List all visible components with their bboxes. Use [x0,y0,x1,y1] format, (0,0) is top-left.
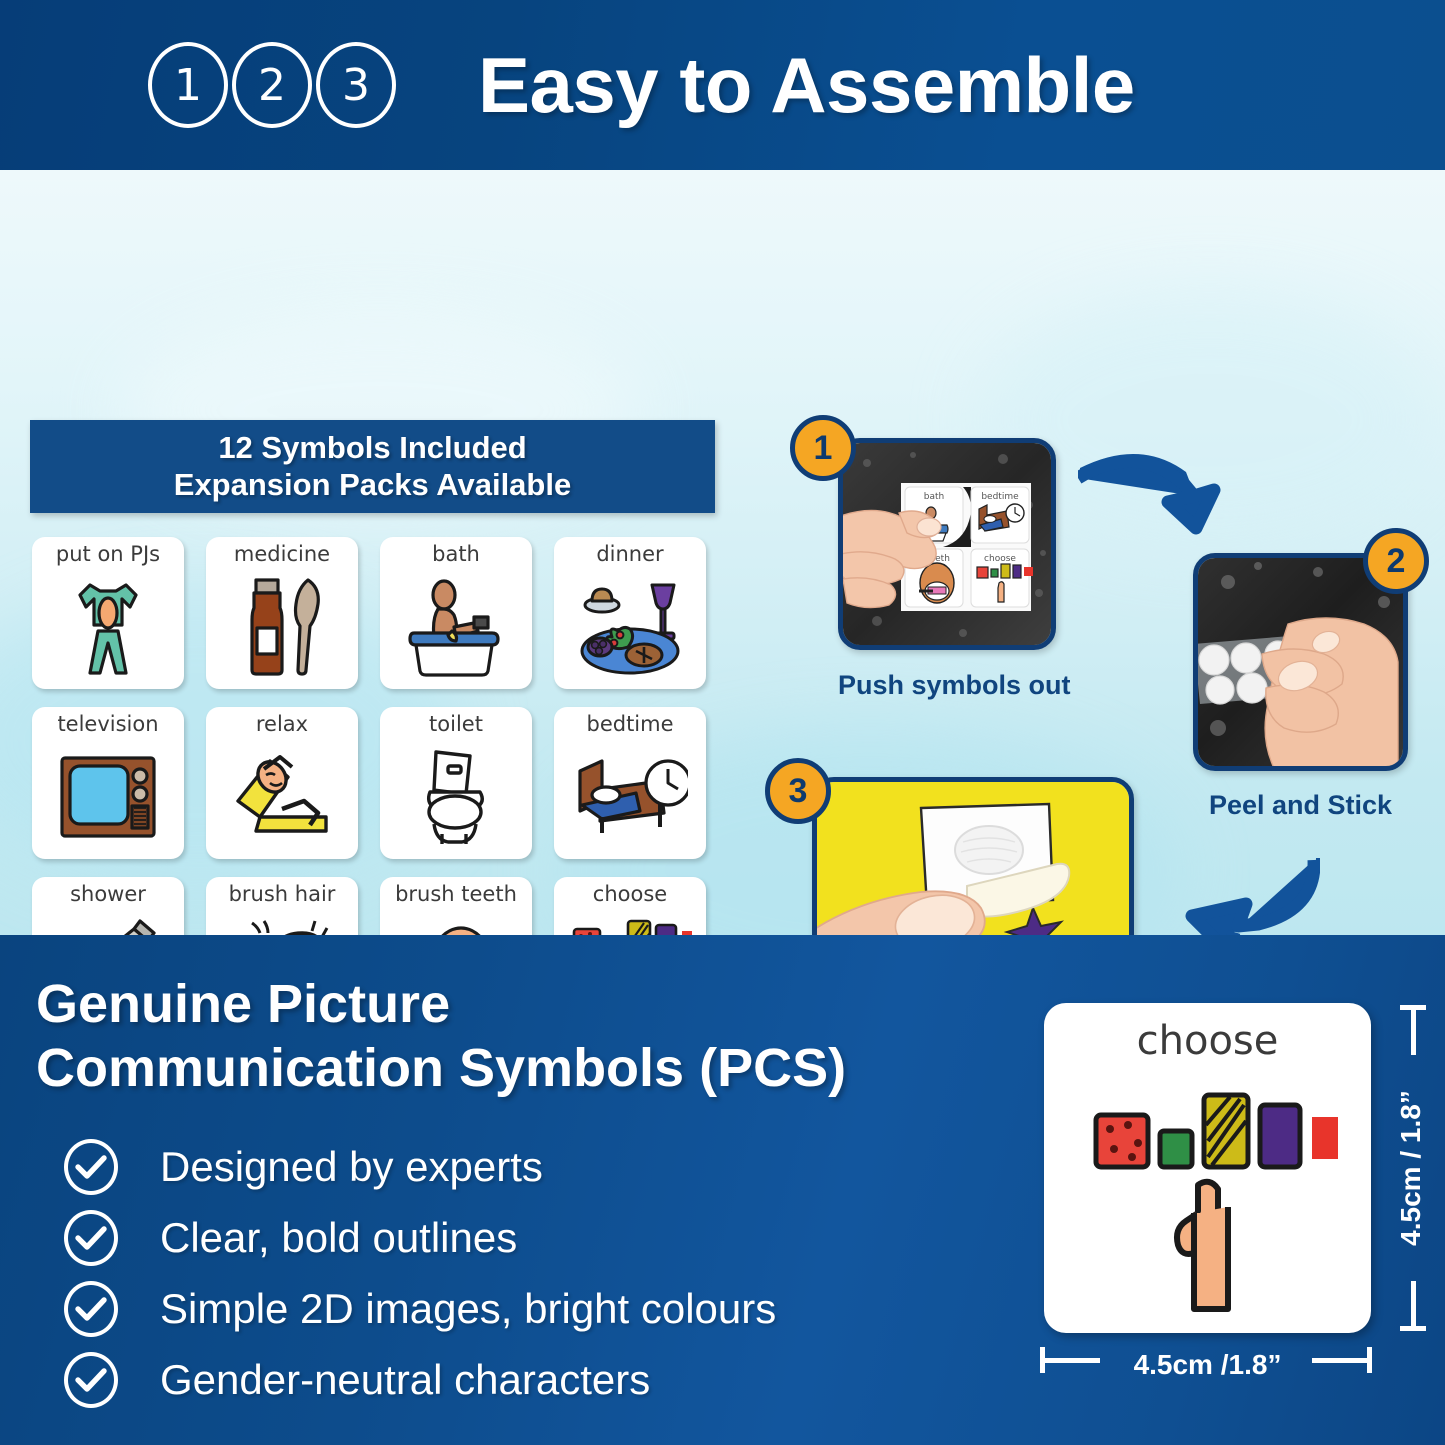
check-icon [64,1281,118,1337]
symbol-label: television [57,714,158,735]
step-number-badges: 1 2 3 [148,42,396,128]
step-3-photo [812,777,1134,935]
assembly-section: 12 Symbols Included Expansion Packs Avai… [0,170,1445,935]
shower-head-icon [32,905,184,935]
symbols-included-banner: 12 Symbols Included Expansion Packs Avai… [30,420,715,513]
header-number-2: 2 [232,42,312,128]
step-1-photo: bath bedtime te [838,438,1056,650]
symbol-label: toilet [429,714,483,735]
check-icon [64,1352,118,1408]
svg-text:choose: choose [984,554,1016,564]
television-icon [32,735,184,859]
feature-item: Clear, bold outlines [64,1202,776,1273]
header-number-1: 1 [148,42,228,128]
pcs-title-line-2: Communication Symbols (PCS) [36,1037,1036,1101]
symbol-card[interactable]: brush hair [206,877,358,935]
toilet-icon [380,735,532,859]
symbol-label: bath [432,544,480,565]
hairbrush-icon [206,905,358,935]
header-number-3: 3 [316,42,396,128]
feature-label: Simple 2D images, bright colours [160,1285,776,1333]
feature-list: Designed by experts Clear, bold outlines… [64,1131,776,1415]
feature-label: Clear, bold outlines [160,1214,517,1262]
banner-line-2: Expansion Packs Available [174,467,571,503]
feature-label: Designed by experts [160,1143,543,1191]
header-title: Easy to Assemble [478,40,1135,131]
height-dimension-label-wrap: 4.5cm / 1.8” [1386,1003,1436,1333]
symbol-card[interactable]: relax [206,707,358,859]
symbol-card[interactable]: brush teeth [380,877,532,935]
bathtub-icon [380,565,532,689]
height-dimension-label: 4.5cm / 1.8” [1395,1090,1427,1246]
step-2-caption: Peel and Stick [1163,790,1438,821]
symbol-card[interactable]: shower [32,877,184,935]
pajamas-icon [32,565,184,689]
svg-text:bath: bath [924,492,944,502]
pcs-title-line-1: Genuine Picture [36,973,1036,1037]
step-2-badge: 2 [1363,528,1429,594]
product-sample-card[interactable]: choose [1044,1003,1371,1333]
header-banner: 1 2 3 Easy to Assemble [0,0,1445,170]
symbol-card[interactable]: bath [380,537,532,689]
symbol-label: brush hair [229,884,336,905]
feature-item: Gender-neutral characters [64,1344,776,1415]
toothbrush-icon [380,905,532,935]
svg-text:bedtime: bedtime [981,492,1019,502]
feature-item: Designed by experts [64,1131,776,1202]
symbol-card[interactable]: put on PJs [32,537,184,689]
banner-line-1: 12 Symbols Included [218,430,526,466]
width-dimension-label: 4.5cm /1.8” [1134,1349,1282,1381]
feature-item: Simple 2D images, bright colours [64,1273,776,1344]
symbol-label: shower [70,884,146,905]
bed-clock-icon [554,735,706,859]
relax-lounger-icon [206,735,358,859]
product-card-label: choose [1137,1021,1279,1061]
symbol-card[interactable]: toilet [380,707,532,859]
symbol-card[interactable]: television [32,707,184,859]
medicine-bottle-icon [206,565,358,689]
dinner-plate-icon [554,565,706,689]
infographic-page: 1 2 3 Easy to Assemble 12 Symbols Includ… [0,0,1445,1445]
symbol-label: bedtime [586,714,673,735]
step-1-badge: 1 [790,415,856,481]
symbol-card[interactable]: choose [554,877,706,935]
symbol-card[interactable]: dinner [554,537,706,689]
step-1-caption: Push symbols out [838,670,1056,701]
pcs-features-section: Genuine Picture Communication Symbols (P… [0,935,1445,1445]
symbol-label: brush teeth [395,884,517,905]
width-dimension-label-wrap: 4.5cm /1.8” [1040,1343,1375,1387]
arrow-step1-to-step2-icon [1078,450,1253,568]
symbol-card-grid: put on PJs medicine [32,537,706,935]
feature-label: Gender-neutral characters [160,1356,650,1404]
check-icon [64,1139,118,1195]
pointing-finger-icon [554,905,706,935]
arrow-step2-to-step3-icon [1140,858,1320,935]
symbol-label: put on PJs [56,544,160,565]
symbol-label: relax [256,714,308,735]
check-icon [64,1210,118,1266]
symbol-card[interactable]: bedtime [554,707,706,859]
pcs-title: Genuine Picture Communication Symbols (P… [36,973,1036,1100]
pointing-finger-icon [1078,1069,1338,1326]
symbol-label: medicine [234,544,330,565]
symbol-label: dinner [596,544,663,565]
symbol-card[interactable]: medicine [206,537,358,689]
symbol-label: choose [593,884,667,905]
step-3-badge: 3 [765,758,831,824]
